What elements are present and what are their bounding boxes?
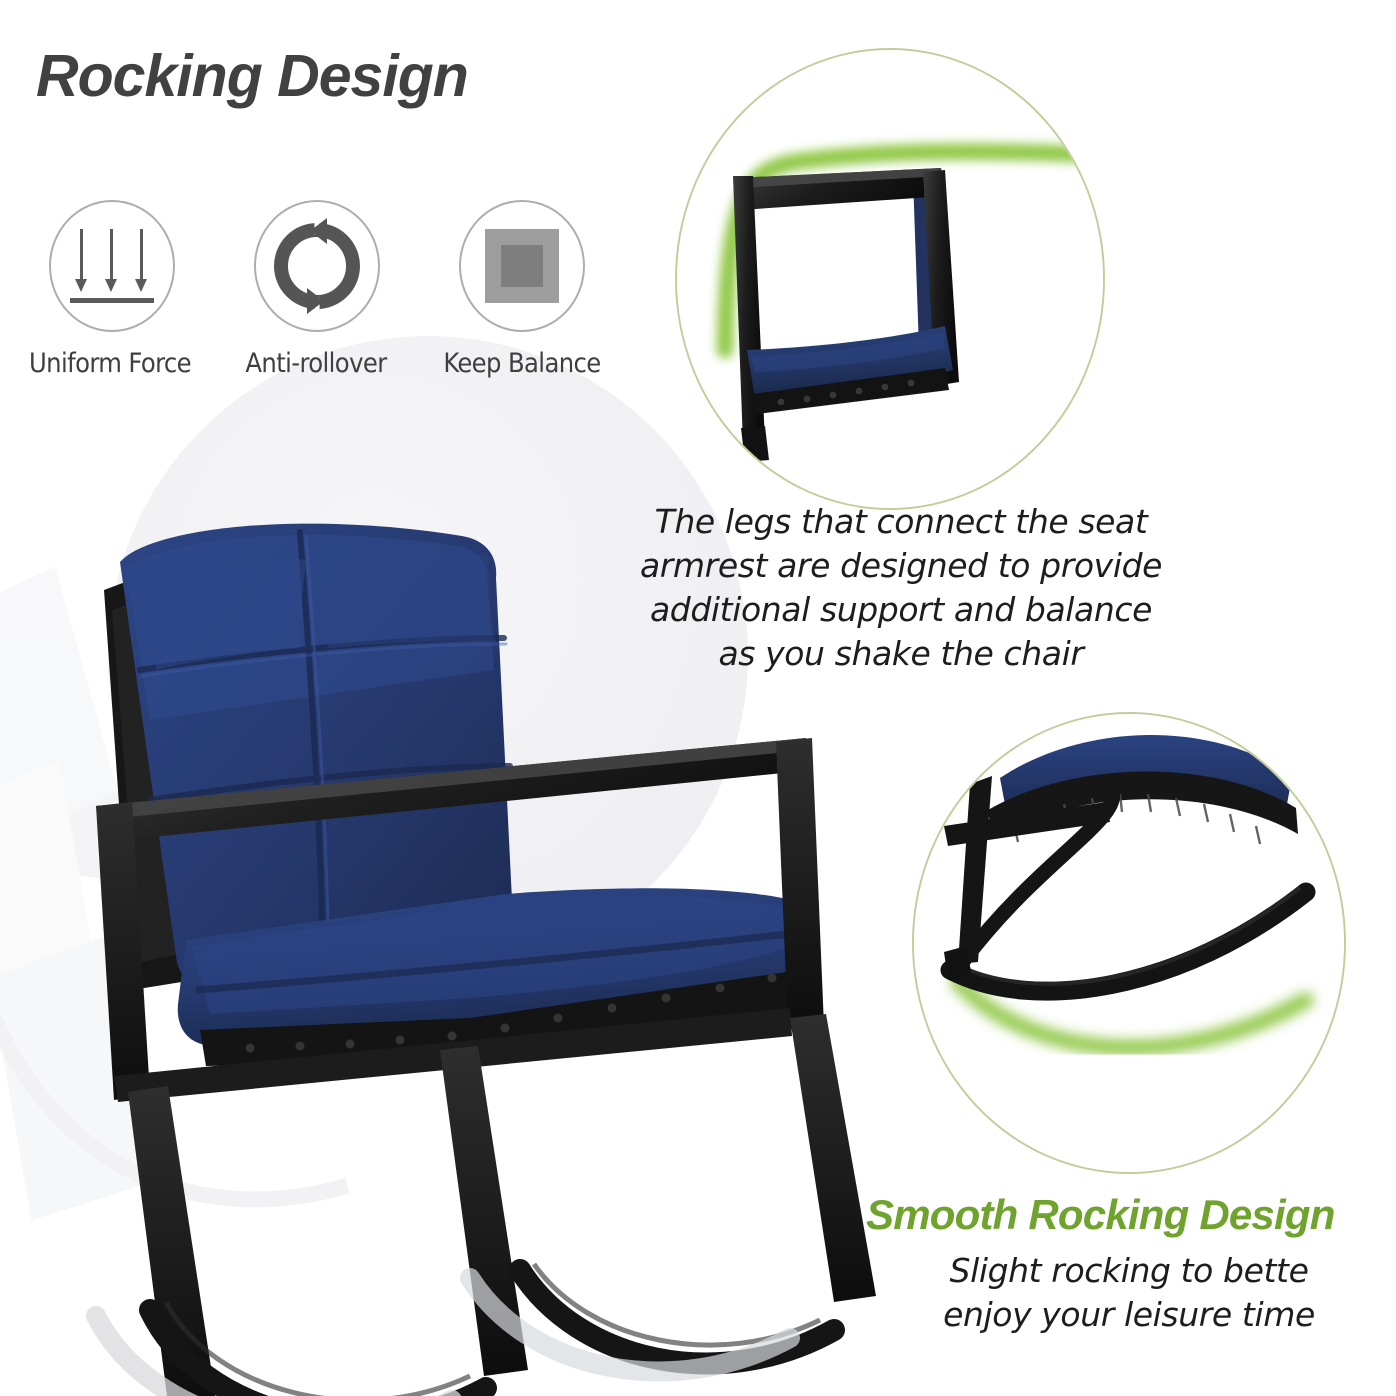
icon-ring [49,200,175,332]
rear-right-leg [790,1014,876,1302]
infographic-canvas: Rocking Design Uniform Force Anti-rollov… [0,0,1396,1396]
inset-armrest-frame-detail [675,48,1105,510]
feature-label: Keep Balance [422,348,622,379]
callout-line: Slight rocking to bette [866,1249,1392,1293]
callout-line: additional support and balance [612,588,1190,632]
armrest-callout-text: The legs that connect the seat armrest a… [612,500,1190,676]
page-title: Rocking Design [36,42,468,110]
feature-keep-balance: Keep Balance [422,200,622,379]
rocking-callout-text: Slight rocking to bette enjoy your leisu… [866,1249,1392,1337]
anti-rollover-icon [274,223,360,309]
rocking-callout-heading: Smooth Rocking Design [866,1191,1396,1239]
icon-ring [254,200,380,332]
feature-anti-rollover: Anti-rollover [217,200,417,379]
callout-line: as you shake the chair [612,632,1190,676]
callout-line: enjoy your leisure time [866,1293,1392,1337]
keep-balance-icon [485,229,559,303]
uniform-force-icon [72,229,152,303]
feature-label: Uniform Force [8,348,212,379]
feature-icon-row: Uniform Force Anti-rollover Keep Balance [12,200,632,390]
inset-rocker-base-detail [912,712,1346,1174]
icon-ring [459,200,585,332]
callout-line: armrest are designed to provide [612,544,1190,588]
feature-label: Anti-rollover [215,348,417,379]
feature-uniform-force: Uniform Force [12,200,212,379]
